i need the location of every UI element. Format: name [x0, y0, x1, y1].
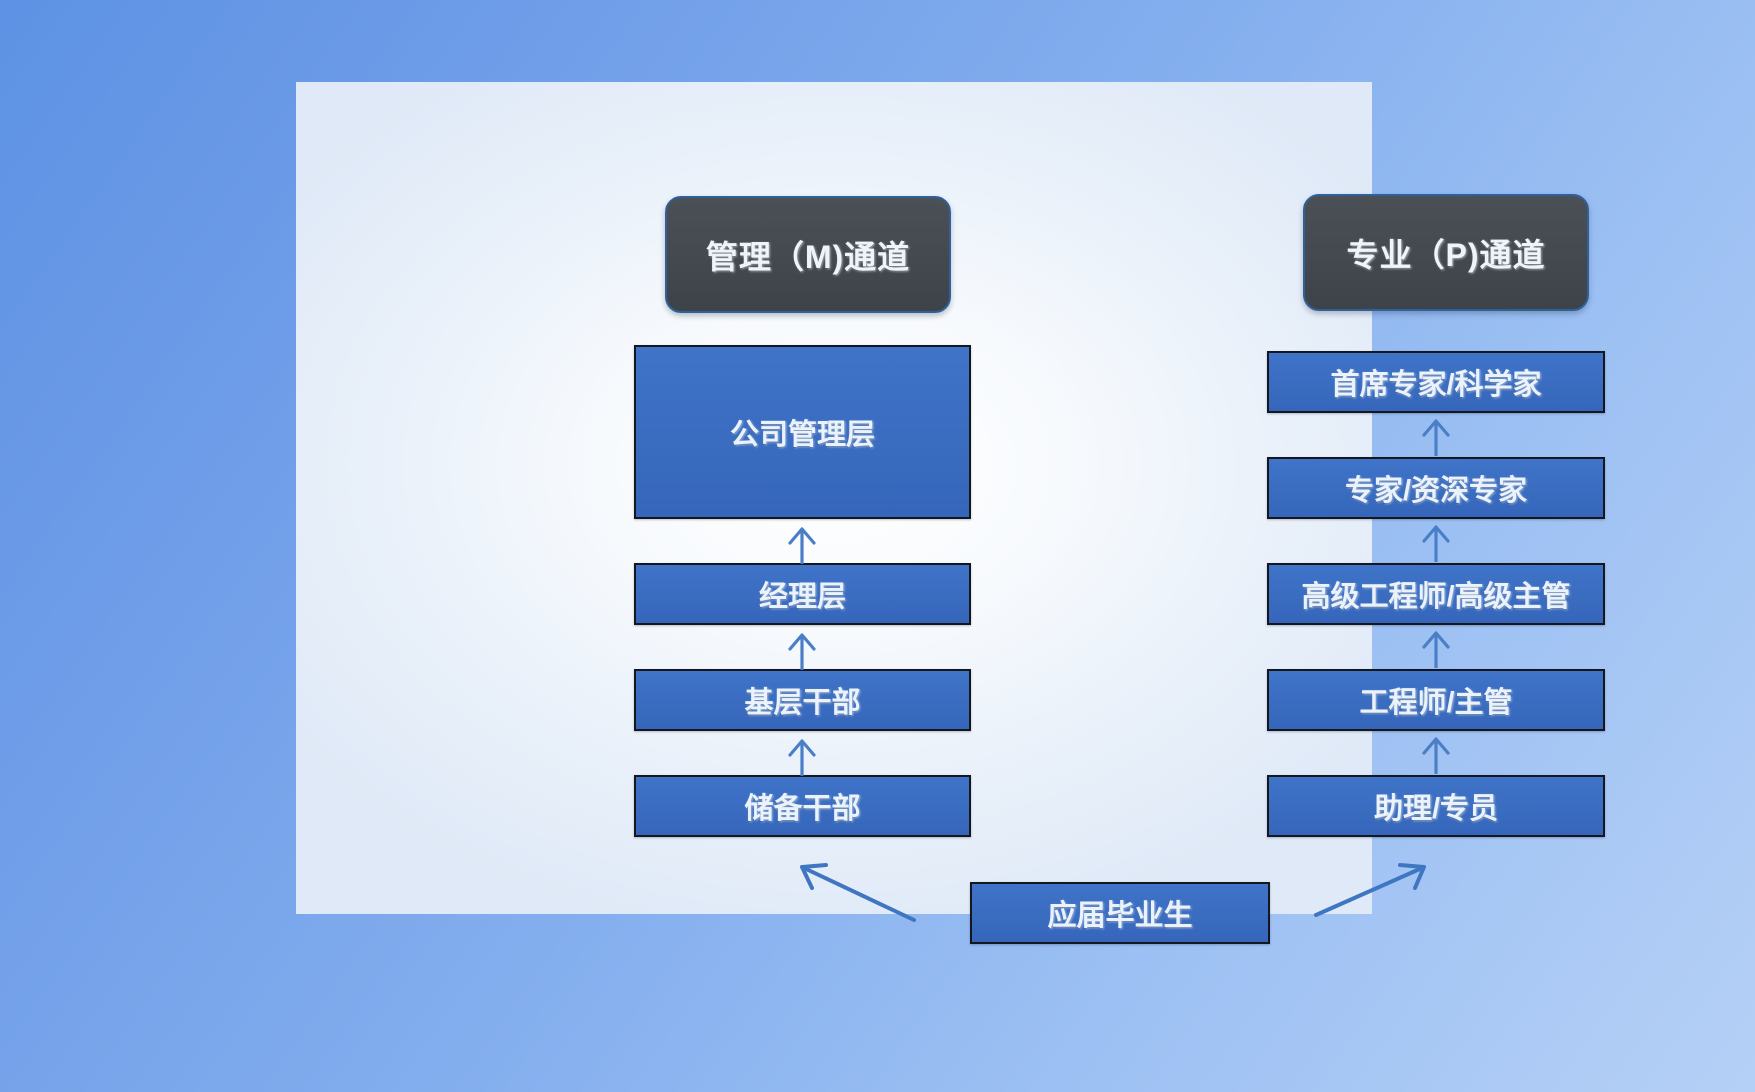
arrow-up-icon — [785, 736, 819, 776]
professional-level-senior-engineer-label: 高级工程师/高级主管 — [1301, 573, 1570, 615]
management-level-frontline-label: 基层干部 — [744, 679, 860, 721]
arrow-up-icon — [1419, 628, 1453, 668]
arrow-up-right-icon — [1314, 862, 1429, 917]
management-level-company-label: 公司管理层 — [730, 411, 875, 453]
arrow-up-icon — [785, 524, 819, 564]
channel-header-management: 管理（M)通道 — [665, 196, 951, 313]
professional-level-engineer: 工程师/主管 — [1267, 669, 1605, 731]
management-level-reserve-label: 储备干部 — [744, 785, 860, 827]
professional-level-senior-expert-label: 专家/资深专家 — [1345, 467, 1527, 509]
professional-level-assistant: 助理/专员 — [1267, 775, 1605, 837]
professional-level-senior-engineer: 高级工程师/高级主管 — [1267, 563, 1605, 625]
arrow-up-icon — [1419, 734, 1453, 774]
channel-header-management-label: 管理（M)通道 — [706, 232, 910, 278]
professional-level-engineer-label: 工程师/主管 — [1359, 679, 1512, 721]
channel-header-professional-label: 专业（P)通道 — [1346, 230, 1545, 276]
entry-level-graduate: 应届毕业生 — [970, 882, 1270, 944]
arrow-up-icon — [1419, 416, 1453, 456]
management-level-manager-label: 经理层 — [759, 573, 846, 615]
entry-level-graduate-label: 应届毕业生 — [1047, 892, 1192, 934]
arrow-up-icon — [785, 630, 819, 670]
management-level-company: 公司管理层 — [634, 345, 971, 519]
management-level-frontline: 基层干部 — [634, 669, 971, 731]
professional-level-senior-expert: 专家/资深专家 — [1267, 457, 1605, 519]
management-level-reserve: 储备干部 — [634, 775, 971, 837]
diagram-panel: 管理（M)通道 专业（P)通道 公司管理层 经理层 基层干部 储备干部 首席专家… — [296, 82, 1372, 914]
arrow-up-left-icon — [796, 862, 916, 922]
diagram-canvas: 管理（M)通道 专业（P)通道 公司管理层 经理层 基层干部 储备干部 首席专家… — [0, 0, 1755, 1092]
channel-header-professional: 专业（P)通道 — [1303, 194, 1589, 311]
professional-level-chief-expert-label: 首席专家/科学家 — [1330, 361, 1541, 403]
professional-level-assistant-label: 助理/专员 — [1374, 785, 1498, 827]
professional-level-chief-expert: 首席专家/科学家 — [1267, 351, 1605, 413]
arrow-up-icon — [1419, 522, 1453, 562]
management-level-manager: 经理层 — [634, 563, 971, 625]
